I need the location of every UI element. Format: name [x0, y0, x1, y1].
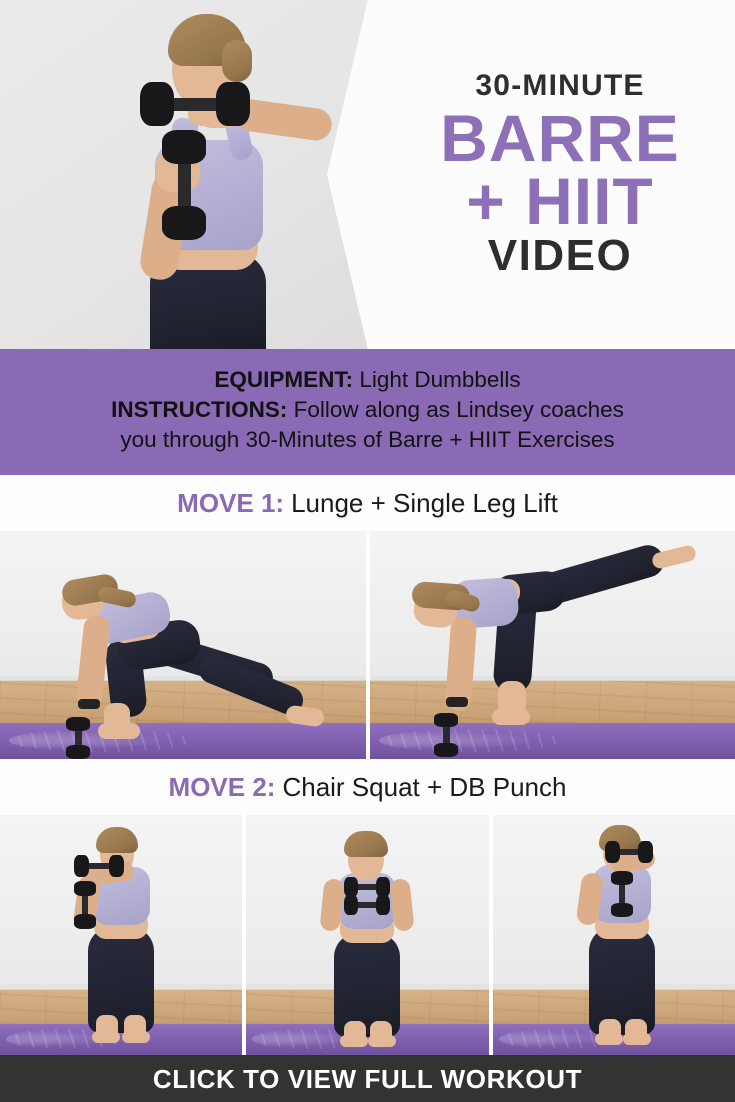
move-2-photo-row: [0, 815, 735, 1055]
hero-hair-bun: [222, 40, 252, 82]
title-eyebrow: 30-MINUTE: [475, 71, 644, 101]
move-2-photo-3: [493, 815, 735, 1055]
studio-scene: [493, 815, 735, 1055]
m1p2-dumbbell: [434, 713, 458, 757]
m2p3-leggings: [589, 927, 655, 1035]
move-2-label: MOVE 2: Chair Squat + DB Punch: [0, 759, 735, 815]
move-1-number: MOVE 1:: [177, 490, 284, 516]
equipment-value: Light Dumbbells: [359, 367, 520, 392]
m2p3-dumbbell-rack: [611, 871, 633, 917]
title-line-video: VIDEO: [488, 234, 632, 278]
m2p2-dumbbell-right: [344, 895, 390, 915]
move-2-name: Chair Squat + DB Punch: [282, 774, 566, 800]
move-2-photo-2: [246, 815, 488, 1055]
equipment-instructions-banner: EQUIPMENT: Light Dumbbells INSTRUCTIONS:…: [0, 349, 735, 475]
hero-dumbbell-upper: [140, 82, 250, 126]
title-line-barre: BARRE: [440, 107, 680, 169]
move-1-photo-row: [0, 531, 735, 759]
infographic-pin: 30-MINUTE BARRE + HIIT VIDEO EQUIPMENT: …: [0, 0, 735, 1102]
m1p2-wristband: [446, 697, 468, 707]
m2p2-foot-l: [340, 1035, 368, 1047]
m2p2-dumbbell-left: [344, 877, 390, 897]
m1p1-front-foot: [98, 723, 140, 739]
m2p2-foot-r: [368, 1035, 396, 1047]
move-1-photo-2: [370, 531, 735, 759]
hero-section: 30-MINUTE BARRE + HIIT VIDEO: [0, 0, 735, 349]
m2p1-foot-l: [92, 1031, 120, 1043]
m2p2-hair: [344, 831, 388, 857]
m2p3-foot-r: [623, 1033, 651, 1045]
instructions-line-2: you through 30-Minutes of Barre + HIIT E…: [120, 425, 614, 455]
studio-scene: [246, 815, 488, 1055]
yoga-mat: [0, 723, 366, 759]
instructions-line-1: INSTRUCTIONS: Follow along as Lindsey co…: [111, 395, 624, 425]
move-1-photo-1: [0, 531, 366, 759]
m2p1-dumbbell-rack: [74, 881, 96, 929]
m2p1-hair: [96, 827, 138, 853]
m2p3-foot-l: [595, 1033, 623, 1045]
hero-dumbbell-lower: [162, 130, 206, 240]
yoga-mat: [370, 723, 735, 759]
move-1-name: Lunge + Single Leg Lift: [291, 490, 558, 516]
cta-bar[interactable]: CLICK TO VIEW FULL WORKOUT: [0, 1055, 735, 1102]
move-2-number: MOVE 2:: [169, 774, 276, 800]
hero-title-block: 30-MINUTE BARRE + HIIT VIDEO: [327, 0, 735, 349]
m2p1-dumbbell-punch: [74, 855, 124, 877]
m2p2-leggings: [334, 933, 400, 1037]
m1p1-dumbbell: [66, 717, 90, 759]
studio-scene: [0, 531, 366, 759]
studio-scene: [370, 531, 735, 759]
m1p1-wristband: [78, 699, 100, 709]
m2p1-foot-r: [122, 1031, 150, 1043]
instructions-label: INSTRUCTIONS:: [111, 397, 287, 422]
title-line-hiit: + HIIT: [466, 170, 654, 232]
instructions-value-1: Follow along as Lindsey coaches: [294, 397, 624, 422]
equipment-label: EQUIPMENT:: [214, 367, 353, 392]
m1p2-standing-foot: [492, 709, 530, 725]
move-2-photo-1: [0, 815, 242, 1055]
m2p3-dumbbell-punch: [605, 841, 653, 863]
equipment-line: EQUIPMENT: Light Dumbbells: [214, 365, 520, 395]
studio-scene: [0, 815, 242, 1055]
move-1-label: MOVE 1: Lunge + Single Leg Lift: [0, 475, 735, 531]
cta-label: CLICK TO VIEW FULL WORKOUT: [153, 1066, 582, 1092]
